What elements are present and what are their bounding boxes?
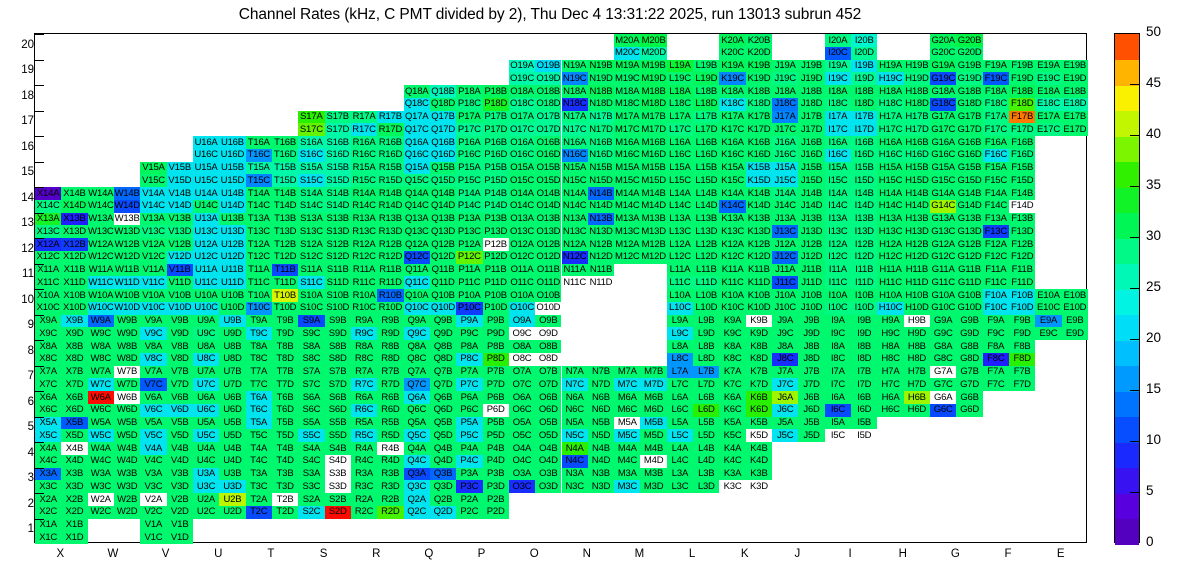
- y-axis-tick-label: 5: [6, 421, 34, 433]
- channel-cell: R10D: [377, 302, 403, 315]
- channel-cell: F8A: [983, 340, 1009, 353]
- channel-cell: X5D: [61, 429, 87, 442]
- channel-cell: O7C: [509, 378, 535, 391]
- channel-cell: X14A: [35, 187, 61, 200]
- channel-cell: V14C: [140, 200, 166, 213]
- channel-cell: W14D: [114, 200, 140, 213]
- channel-cell: T13A: [246, 213, 272, 226]
- channel-cell: F19D: [1009, 72, 1035, 85]
- channel-cell: T14D: [272, 200, 298, 213]
- channel-cell: K6B: [746, 391, 772, 404]
- channel-cell: Q2B: [430, 493, 456, 506]
- channel-cell: G13D: [956, 225, 982, 238]
- channel-cell: L13D: [693, 225, 719, 238]
- channel-cell: U9B: [219, 315, 245, 328]
- channel-cell: H10C: [877, 302, 903, 315]
- channel-cell: T11C: [246, 276, 272, 289]
- channel-cell: H14A: [877, 187, 903, 200]
- channel-cell: O6A: [509, 391, 535, 404]
- channel-cell: S5B: [325, 417, 351, 430]
- channel-cell: R6D: [377, 404, 403, 417]
- channel-cell: L12C: [667, 251, 693, 264]
- channel-cell: V13A: [140, 213, 166, 226]
- channel-cell: X11C: [35, 276, 61, 289]
- channel-cell: P9A: [456, 315, 482, 328]
- channel-cell: S17C: [298, 123, 324, 136]
- channel-cell: I14C: [825, 200, 851, 213]
- channel-cell: M20A: [614, 34, 640, 47]
- colorbar-tick-mark: [1130, 237, 1140, 238]
- channel-cell: G10B: [956, 289, 982, 302]
- channel-cell: U11D: [219, 276, 245, 289]
- channel-cell: W9C: [88, 327, 114, 340]
- channel-cell: L15D: [693, 174, 719, 187]
- channel-cell: S9A: [298, 315, 324, 328]
- channel-cell: W10B: [114, 289, 140, 302]
- channel-cell: W8A: [88, 340, 114, 353]
- channel-cell: I12D: [851, 251, 877, 264]
- channel-cell: O11C: [509, 276, 535, 289]
- channel-cell: N5C: [562, 429, 588, 442]
- channel-cell: T4D: [272, 455, 298, 468]
- channel-cell: M3C: [614, 480, 640, 493]
- channel-cell: X6A: [35, 391, 61, 404]
- channel-cell: K8A: [719, 340, 745, 353]
- channel-cell: H7C: [877, 378, 903, 391]
- channel-cell: G13C: [930, 225, 956, 238]
- channel-cell: I15A: [825, 162, 851, 175]
- channel-cell: J19A: [772, 60, 798, 73]
- channel-cell: X1C: [35, 531, 61, 544]
- channel-cell: Q16C: [404, 149, 430, 162]
- channel-cell: I5D: [851, 429, 877, 442]
- channel-cell: L13A: [667, 213, 693, 226]
- channel-cell: T7C: [246, 378, 272, 391]
- channel-cell: O15B: [535, 162, 561, 175]
- channel-cell: O12A: [509, 238, 535, 251]
- channel-cell: O13A: [509, 213, 535, 226]
- channel-cell: M18A: [614, 85, 640, 98]
- channel-cell: W14B: [114, 187, 140, 200]
- channel-cell: J5A: [772, 417, 798, 430]
- channel-cell: R8D: [377, 353, 403, 366]
- channel-cell: K19A: [719, 60, 745, 73]
- channel-cell: I13C: [825, 225, 851, 238]
- channel-cell: H12B: [904, 238, 930, 251]
- channel-cell: X9D: [61, 327, 87, 340]
- channel-cell: G11B: [956, 264, 982, 277]
- y-axis-tick-label: 3: [6, 472, 34, 484]
- channel-cell: L12A: [667, 238, 693, 251]
- channel-cell: N13B: [588, 213, 614, 226]
- channel-cell: Q15A: [404, 162, 430, 175]
- channel-cell: Q6B: [430, 391, 456, 404]
- y-axis-tick-mark: [35, 162, 44, 163]
- channel-cell: M13A: [614, 213, 640, 226]
- channel-cell: S3D: [325, 480, 351, 493]
- channel-cell: H10D: [904, 302, 930, 315]
- channel-cell: M13B: [640, 213, 666, 226]
- channel-cell: U3D: [219, 480, 245, 493]
- channel-cell: O18D: [535, 98, 561, 111]
- channel-cell: S7A: [298, 366, 324, 379]
- channel-cell: O7B: [535, 366, 561, 379]
- channel-cell: J13D: [798, 225, 824, 238]
- channel-cell: L9D: [693, 327, 719, 340]
- channel-cell: L3B: [693, 468, 719, 481]
- channel-cell: W9D: [114, 327, 140, 340]
- channel-cell: L18C: [667, 98, 693, 111]
- channel-cell: Q14B: [430, 187, 456, 200]
- channel-cell: J7C: [772, 378, 798, 391]
- channel-cell: S10D: [325, 302, 351, 315]
- channel-cell: V10D: [167, 302, 193, 315]
- channel-cell: U13B: [219, 213, 245, 226]
- channel-cell: H10B: [904, 289, 930, 302]
- channel-cell: R4A: [351, 442, 377, 455]
- channel-cell: K4B: [746, 442, 772, 455]
- y-axis-tick-mark: [35, 60, 44, 61]
- y-axis-tick-mark: [35, 468, 44, 469]
- channel-cell: O16A: [509, 136, 535, 149]
- channel-cell: V15D: [167, 174, 193, 187]
- channel-cell: J9A: [772, 315, 798, 328]
- channel-cell: F17B: [1009, 111, 1035, 124]
- channel-cell: V2D: [167, 506, 193, 519]
- channel-cell: Q10A: [404, 289, 430, 302]
- channel-cell: O5B: [535, 417, 561, 430]
- channel-cell: N18B: [588, 85, 614, 98]
- channel-cell: K12A: [719, 238, 745, 251]
- y-axis-tick-label: 6: [6, 396, 34, 408]
- channel-cell: G12B: [956, 238, 982, 251]
- channel-cell: H18D: [904, 98, 930, 111]
- channel-cell: Q16D: [430, 149, 456, 162]
- channel-cell: P6A: [456, 391, 482, 404]
- channel-cell: K12D: [746, 251, 772, 264]
- channel-cell: J7A: [772, 366, 798, 379]
- channel-cell: P14D: [483, 200, 509, 213]
- channel-cell: W10D: [114, 302, 140, 315]
- channel-cell: L11C: [667, 276, 693, 289]
- channel-cell: M19A: [614, 60, 640, 73]
- channel-cell: P8B: [483, 340, 509, 353]
- channel-cell: Q14D: [430, 200, 456, 213]
- channel-cell: N14A: [562, 187, 588, 200]
- channel-cell: L3A: [667, 468, 693, 481]
- channel-cell: J14C: [772, 200, 798, 213]
- channel-cell: M16C: [614, 149, 640, 162]
- channel-cell: G19C: [930, 72, 956, 85]
- channel-cell: Q18B: [430, 85, 456, 98]
- channel-cell: K17A: [719, 111, 745, 124]
- channel-cell: F9D: [1009, 327, 1035, 340]
- channel-cell: Q11D: [430, 276, 456, 289]
- channel-cell: W13B: [114, 213, 140, 226]
- channel-cell: M3B: [640, 468, 666, 481]
- channel-cell: K11A: [719, 264, 745, 277]
- channel-cell: R10A: [351, 289, 377, 302]
- channel-cell: R10C: [351, 302, 377, 315]
- channel-cell: Q10B: [430, 289, 456, 302]
- channel-cell: F10C: [983, 302, 1009, 315]
- channel-cell: K18A: [719, 85, 745, 98]
- channel-cell: H8B: [904, 340, 930, 353]
- x-axis-tick-label: J: [777, 548, 817, 560]
- channel-cell: G19B: [956, 60, 982, 73]
- channel-cell: U4C: [193, 455, 219, 468]
- channel-cell: M16B: [640, 136, 666, 149]
- channel-cell: F16B: [1009, 136, 1035, 149]
- channel-cell: U2B: [219, 493, 245, 506]
- channel-cell: O3C: [509, 480, 535, 493]
- channel-cell: N15C: [562, 174, 588, 187]
- channel-cell: P18B: [483, 85, 509, 98]
- channel-cell: S7D: [325, 378, 351, 391]
- x-axis-tick-label: L: [672, 548, 712, 560]
- channel-cell: U16B: [219, 136, 245, 149]
- channel-cell: Q8D: [430, 353, 456, 366]
- channel-cell: J12A: [772, 238, 798, 251]
- channel-cell: M4D: [640, 455, 666, 468]
- channel-cell: H14B: [904, 187, 930, 200]
- channel-cell: O18A: [509, 85, 535, 98]
- channel-cell: R17C: [351, 123, 377, 136]
- channel-cell: U5A: [193, 417, 219, 430]
- channel-cell: J14D: [798, 200, 824, 213]
- channel-cell: T14B: [272, 187, 298, 200]
- channel-cell: J17C: [772, 123, 798, 136]
- channel-cell: I8B: [851, 340, 877, 353]
- y-axis-tick-mark: [35, 417, 44, 418]
- channel-cell: W12C: [88, 251, 114, 264]
- channel-cell: W6B: [114, 391, 140, 404]
- channel-cell: Q3C: [404, 480, 430, 493]
- channel-cell: X9A: [35, 315, 61, 328]
- channel-cell: H12C: [877, 251, 903, 264]
- channel-cell: S11C: [298, 276, 324, 289]
- channel-cell: P6C: [456, 404, 482, 417]
- channel-cell: R5D: [377, 429, 403, 442]
- y-axis-tick-mark: [35, 391, 44, 392]
- channel-cell: W7A: [88, 366, 114, 379]
- channel-cell: U2C: [193, 506, 219, 519]
- channel-cell: G8B: [956, 340, 982, 353]
- channel-cell: Q4B: [430, 442, 456, 455]
- channel-cell: X1A: [35, 519, 61, 532]
- channel-cell: W13D: [114, 225, 140, 238]
- channel-cell: J17A: [772, 111, 798, 124]
- channel-cell: F18D: [1009, 98, 1035, 111]
- channel-cell: E18B: [1062, 85, 1088, 98]
- channel-cell: V4B: [167, 442, 193, 455]
- channel-cell: I12B: [851, 238, 877, 251]
- channel-cell: U12C: [193, 251, 219, 264]
- channel-cell: Q5A: [404, 417, 430, 430]
- channel-cell: I8D: [851, 353, 877, 366]
- channel-cell: R16A: [351, 136, 377, 149]
- channel-cell: F8B: [1009, 340, 1035, 353]
- channel-cell: G11D: [956, 276, 982, 289]
- channel-cell: R11B: [377, 264, 403, 277]
- channel-cell: M5A: [614, 417, 640, 430]
- channel-cell: F11C: [983, 276, 1009, 289]
- channel-cell: J9B: [798, 315, 824, 328]
- channel-cell: M3D: [640, 480, 666, 493]
- channel-cell: E18A: [1035, 85, 1061, 98]
- channel-cell: Q11B: [430, 264, 456, 277]
- channel-cell: P17A: [456, 111, 482, 124]
- channel-cell: S6C: [298, 404, 324, 417]
- channel-cell: K19C: [719, 72, 745, 85]
- channel-cell: G15B: [956, 162, 982, 175]
- channel-cell: X10C: [35, 302, 61, 315]
- channel-cell: V6C: [140, 404, 166, 417]
- channel-cell: P12C: [456, 251, 482, 264]
- y-axis-tick-label: 17: [6, 115, 34, 127]
- channel-cell: G8C: [930, 353, 956, 366]
- channel-cell: U10D: [219, 302, 245, 315]
- channel-cell: O6C: [509, 404, 535, 417]
- channel-cell: V4D: [167, 455, 193, 468]
- channel-cell: X9B: [61, 315, 87, 328]
- channel-cell: M7A: [614, 366, 640, 379]
- channel-cell: K13A: [719, 213, 745, 226]
- channel-cell: J13A: [772, 213, 798, 226]
- channel-cell: F18A: [983, 85, 1009, 98]
- channel-cell: S13C: [298, 225, 324, 238]
- channel-cell: L17D: [693, 123, 719, 136]
- channel-cell: K13D: [746, 225, 772, 238]
- channel-cell: F9A: [983, 315, 1009, 328]
- channel-cell: V13C: [140, 225, 166, 238]
- channel-cell: L8A: [667, 340, 693, 353]
- channel-cell: T6A: [246, 391, 272, 404]
- colorbar-tick-label: 40: [1146, 126, 1161, 141]
- channel-cell: V10A: [140, 289, 166, 302]
- channel-cell: V10C: [140, 302, 166, 315]
- channel-cell: I17A: [825, 111, 851, 124]
- channel-cell: V3C: [140, 480, 166, 493]
- channel-cell: E9C: [1035, 327, 1061, 340]
- channel-cell: J10C: [772, 302, 798, 315]
- channel-cell: T5D: [272, 429, 298, 442]
- channel-cell: L13C: [667, 225, 693, 238]
- channel-cell: X3A: [35, 468, 61, 481]
- channel-cell: U11C: [193, 276, 219, 289]
- channel-cell: K3A: [719, 468, 745, 481]
- channel-cell: X12B: [61, 238, 87, 251]
- colorbar-labels: 05101520253035404550: [1144, 33, 1184, 543]
- channel-cell: U2A: [193, 493, 219, 506]
- channel-cell: Q14A: [404, 187, 430, 200]
- channel-cell: O10D: [535, 302, 561, 315]
- channel-cell: Q7A: [404, 366, 430, 379]
- channel-cell: S6A: [298, 391, 324, 404]
- channel-cell: H16D: [904, 149, 930, 162]
- channel-cell: S3C: [298, 480, 324, 493]
- channel-cell: L4D: [693, 455, 719, 468]
- channel-cell: G14C: [930, 200, 956, 213]
- channel-cell: V7D: [167, 378, 193, 391]
- channel-cell: O8C: [509, 353, 535, 366]
- channel-cell: V9C: [140, 327, 166, 340]
- channel-cell: L7A: [667, 366, 693, 379]
- channel-cell: S7B: [325, 366, 351, 379]
- channel-cell: M12A: [614, 238, 640, 251]
- channel-cell: N5A: [562, 417, 588, 430]
- channel-cell: G9C: [930, 327, 956, 340]
- channel-cell: V14A: [140, 187, 166, 200]
- channel-cell: U10B: [219, 289, 245, 302]
- channel-cell: M4C: [614, 455, 640, 468]
- channel-cell: V11A: [140, 264, 166, 277]
- channel-cell: P14C: [456, 200, 482, 213]
- channel-cell: O16D: [535, 149, 561, 162]
- channel-cell: P5C: [456, 429, 482, 442]
- channel-cell: T9B: [272, 315, 298, 328]
- channel-cell: P10A: [456, 289, 482, 302]
- channel-cell: R14B: [377, 187, 403, 200]
- channel-cell: S12D: [325, 251, 351, 264]
- channel-cell: M14B: [640, 187, 666, 200]
- channel-cell: M20B: [640, 34, 666, 47]
- channel-cell: L14A: [667, 187, 693, 200]
- y-axis-tick-mark: [35, 340, 44, 341]
- channel-cell: T9C: [246, 327, 272, 340]
- channel-cell: Q15B: [430, 162, 456, 175]
- channel-cell: W8D: [114, 353, 140, 366]
- channel-cell: S10B: [325, 289, 351, 302]
- channel-cell: E19D: [1062, 72, 1088, 85]
- channel-cell: L3C: [667, 480, 693, 493]
- channel-cell: G7D: [956, 378, 982, 391]
- channel-cell: S7C: [298, 378, 324, 391]
- channel-cell: L19A: [667, 60, 693, 73]
- channel-cell: P11B: [483, 264, 509, 277]
- channel-cell: R13D: [377, 225, 403, 238]
- channel-cell: M7D: [640, 378, 666, 391]
- channel-cell: L6C: [667, 404, 693, 417]
- channel-cell: H16B: [904, 136, 930, 149]
- channel-cell: S14D: [325, 200, 351, 213]
- channel-cell: L16D: [693, 149, 719, 162]
- channel-cell: L14B: [693, 187, 719, 200]
- channel-cell: I18D: [851, 98, 877, 111]
- channel-cell: K3B: [746, 468, 772, 481]
- channel-cell: R7C: [351, 378, 377, 391]
- channel-cell: W13C: [88, 225, 114, 238]
- channel-cell: T16D: [272, 149, 298, 162]
- channel-cell: F14A: [983, 187, 1009, 200]
- channel-cell: M18D: [640, 98, 666, 111]
- channel-cell: V6A: [140, 391, 166, 404]
- x-axis-tick-label: W: [93, 548, 133, 560]
- channel-cell: P9C: [456, 327, 482, 340]
- colorbar-tick-label: 10: [1146, 432, 1161, 447]
- channel-cell: S16B: [325, 136, 351, 149]
- channel-cell: I17B: [851, 111, 877, 124]
- channel-cell: S6B: [325, 391, 351, 404]
- channel-cell: M19D: [640, 72, 666, 85]
- channel-cell: W2D: [114, 506, 140, 519]
- channel-rate-map: Channel Rates (kHz, C PMT divided by 2),…: [0, 0, 1196, 572]
- channel-cell: R13C: [351, 225, 377, 238]
- channel-cell: F19C: [983, 72, 1009, 85]
- channel-cell: I19D: [851, 72, 877, 85]
- channel-cell: P16A: [456, 136, 482, 149]
- channel-cell: J7B: [798, 366, 824, 379]
